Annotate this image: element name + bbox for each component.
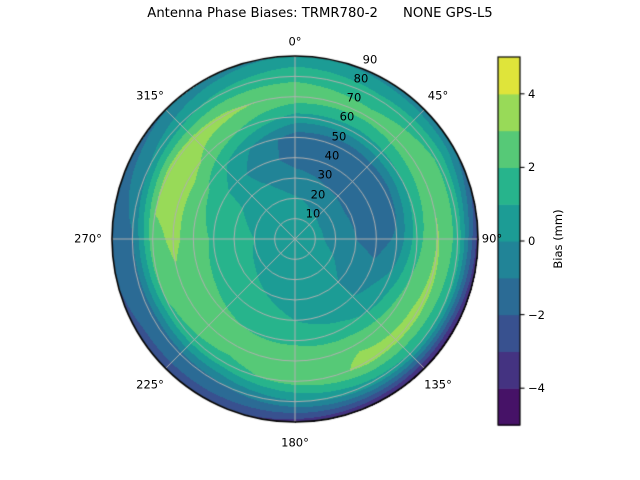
zenith-tick-50: 50: [332, 131, 347, 143]
zenith-tick-70: 70: [347, 92, 362, 104]
azimuth-tick-270deg: 270°: [74, 233, 102, 245]
zenith-tick-30: 30: [318, 169, 333, 181]
figure-root: Antenna Phase Biases: TRMR780-2 NONE GPS…: [0, 0, 640, 480]
zenith-tick-90: 90: [363, 54, 378, 66]
azimuth-tick-135deg: 135°: [424, 379, 452, 391]
colorbar-tick-3: 2: [528, 160, 535, 174]
azimuth-tick-180deg: 180°: [281, 437, 309, 449]
azimuth-tick-45deg: 45°: [428, 90, 448, 102]
zenith-tick-40: 40: [325, 150, 340, 162]
zenith-tick-20: 20: [311, 189, 326, 201]
azimuth-tick-0deg: 0°: [288, 36, 301, 48]
colorbar-tick-1: −2: [528, 308, 545, 322]
azimuth-tick-90deg: 90°: [482, 233, 502, 245]
azimuth-tick-225deg: 225°: [136, 379, 164, 391]
colorbar-tick-2: 0: [528, 234, 535, 248]
zenith-tick-60: 60: [340, 111, 355, 123]
colorbar-tick-4: 4: [528, 87, 535, 101]
azimuth-tick-315deg: 315°: [136, 90, 164, 102]
colorbar-tick-0: −4: [528, 381, 545, 395]
zenith-tick-10: 10: [306, 208, 321, 220]
zenith-tick-80: 80: [354, 73, 369, 85]
colorbar-axis-label: Bias (mm): [551, 209, 565, 268]
